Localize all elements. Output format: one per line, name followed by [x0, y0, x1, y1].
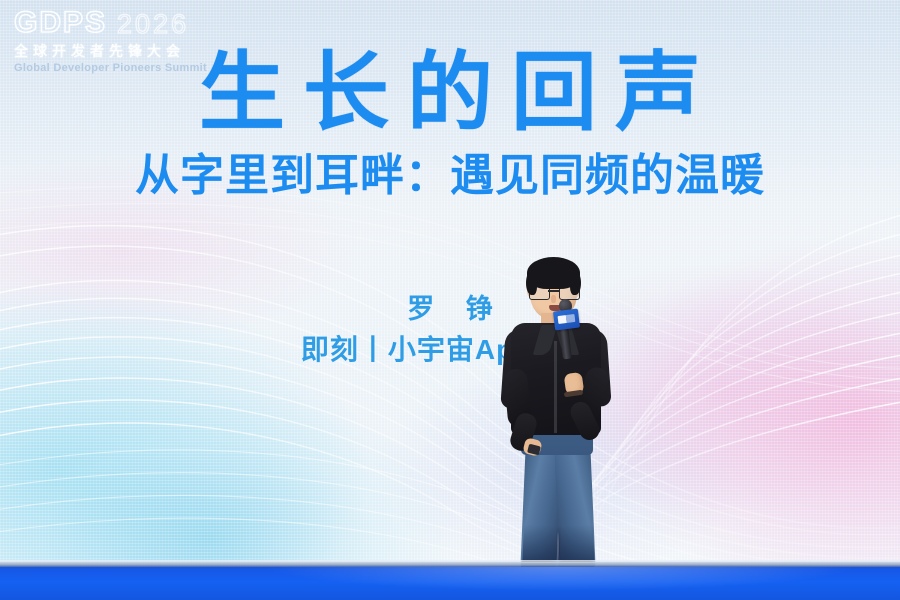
presenter-figure [497, 255, 647, 580]
event-logo-mark: GDPS [14, 8, 107, 38]
event-logo-row: GDPS 2026 [14, 8, 244, 38]
microphone-flag [553, 309, 580, 331]
speaker-name: 罗 铮 [0, 287, 900, 326]
microphone-flag-logo-icon [558, 314, 576, 324]
slide-title: 生长的回声 [0, 48, 900, 138]
stage-floor-sheen [0, 567, 900, 600]
presenter-jacket-placket [554, 341, 557, 433]
presenter-hair [527, 257, 580, 289]
conference-stage-photo: GDPS 2026 全球开发者先锋大会 Global Developer Pio… [0, 0, 900, 600]
eyeglass-bridge [548, 290, 559, 292]
event-logo-year: 2026 [117, 11, 189, 38]
speaker-role: 即刻丨小宇宙App 联合 [0, 328, 900, 368]
slide-subtitle: 从字里到耳畔：遇见同频的温暖 [0, 152, 900, 200]
